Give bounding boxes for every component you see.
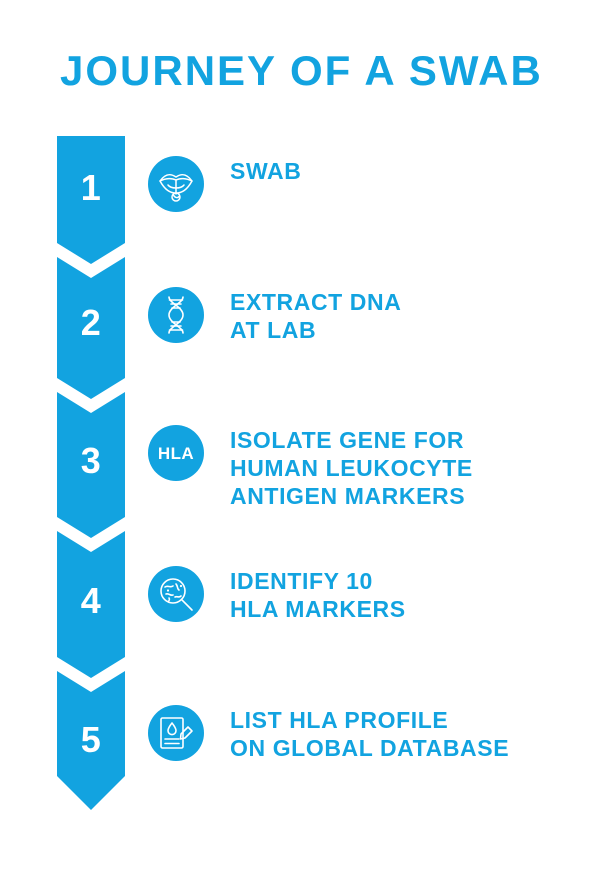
step-label-5: LIST HLA PROFILE ON GLOBAL DATABASE [230,705,509,762]
step-number-1: 1 [57,170,125,206]
document-pen-icon [148,705,204,761]
step-label-2: EXTRACT DNA AT LAB [230,287,401,344]
step-number-3: 3 [57,443,125,479]
hla-icon-label: HLA [158,445,194,462]
step-number-4: 4 [57,583,125,619]
mouth-swab-icon [148,156,204,212]
step-row-1: SWAB [148,156,588,212]
step-row-3: HLA ISOLATE GENE FOR HUMAN LEUKOCYTE ANT… [148,425,588,510]
magnifying-glass-cells-icon [148,566,204,622]
step-number-2: 2 [57,305,125,341]
step-label-1: SWAB [230,156,301,185]
step-row-4: IDENTIFY 10 HLA MARKERS [148,566,588,623]
step-label-4: IDENTIFY 10 HLA MARKERS [230,566,406,623]
step-row-2: EXTRACT DNA AT LAB [148,287,588,344]
hla-text-icon: HLA [148,425,204,481]
dna-helix-icon [148,287,204,343]
step-row-5: LIST HLA PROFILE ON GLOBAL DATABASE [148,705,588,762]
infographic-container: JOURNEY OF A SWAB 1 2 3 4 5 [0,0,600,875]
step-number-5: 5 [57,722,125,758]
page-title: JOURNEY OF A SWAB [60,50,543,92]
step-label-3: ISOLATE GENE FOR HUMAN LEUKOCYTE ANTIGEN… [230,425,473,510]
